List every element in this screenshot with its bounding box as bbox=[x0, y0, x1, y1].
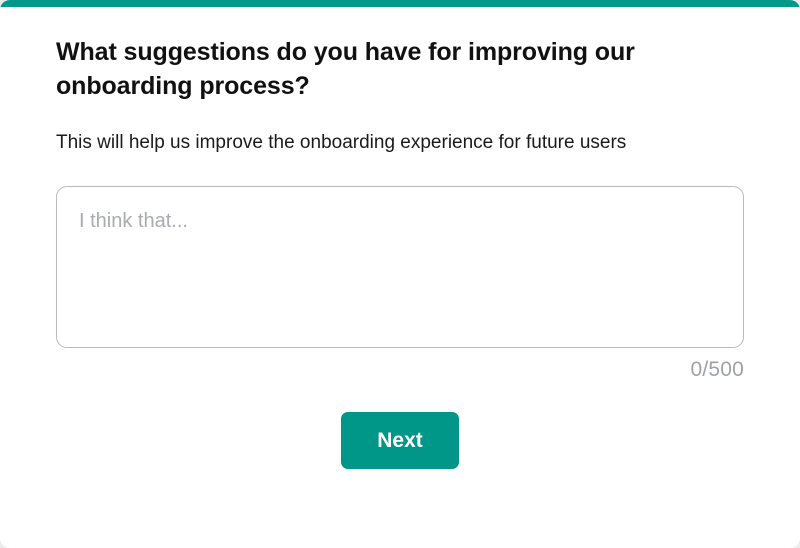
answer-field-group: 0/500 bbox=[56, 156, 744, 382]
answer-textarea[interactable] bbox=[56, 186, 744, 348]
survey-question-card: What suggestions do you have for improvi… bbox=[0, 0, 800, 548]
action-row: Next bbox=[56, 382, 744, 469]
survey-card-body: What suggestions do you have for improvi… bbox=[0, 7, 800, 469]
question-title: What suggestions do you have for improvi… bbox=[56, 7, 666, 104]
character-counter: 0/500 bbox=[56, 348, 744, 382]
accent-top-bar bbox=[0, 0, 800, 7]
question-subtitle: This will help us improve the onboarding… bbox=[56, 104, 736, 157]
next-button[interactable]: Next bbox=[341, 412, 459, 469]
